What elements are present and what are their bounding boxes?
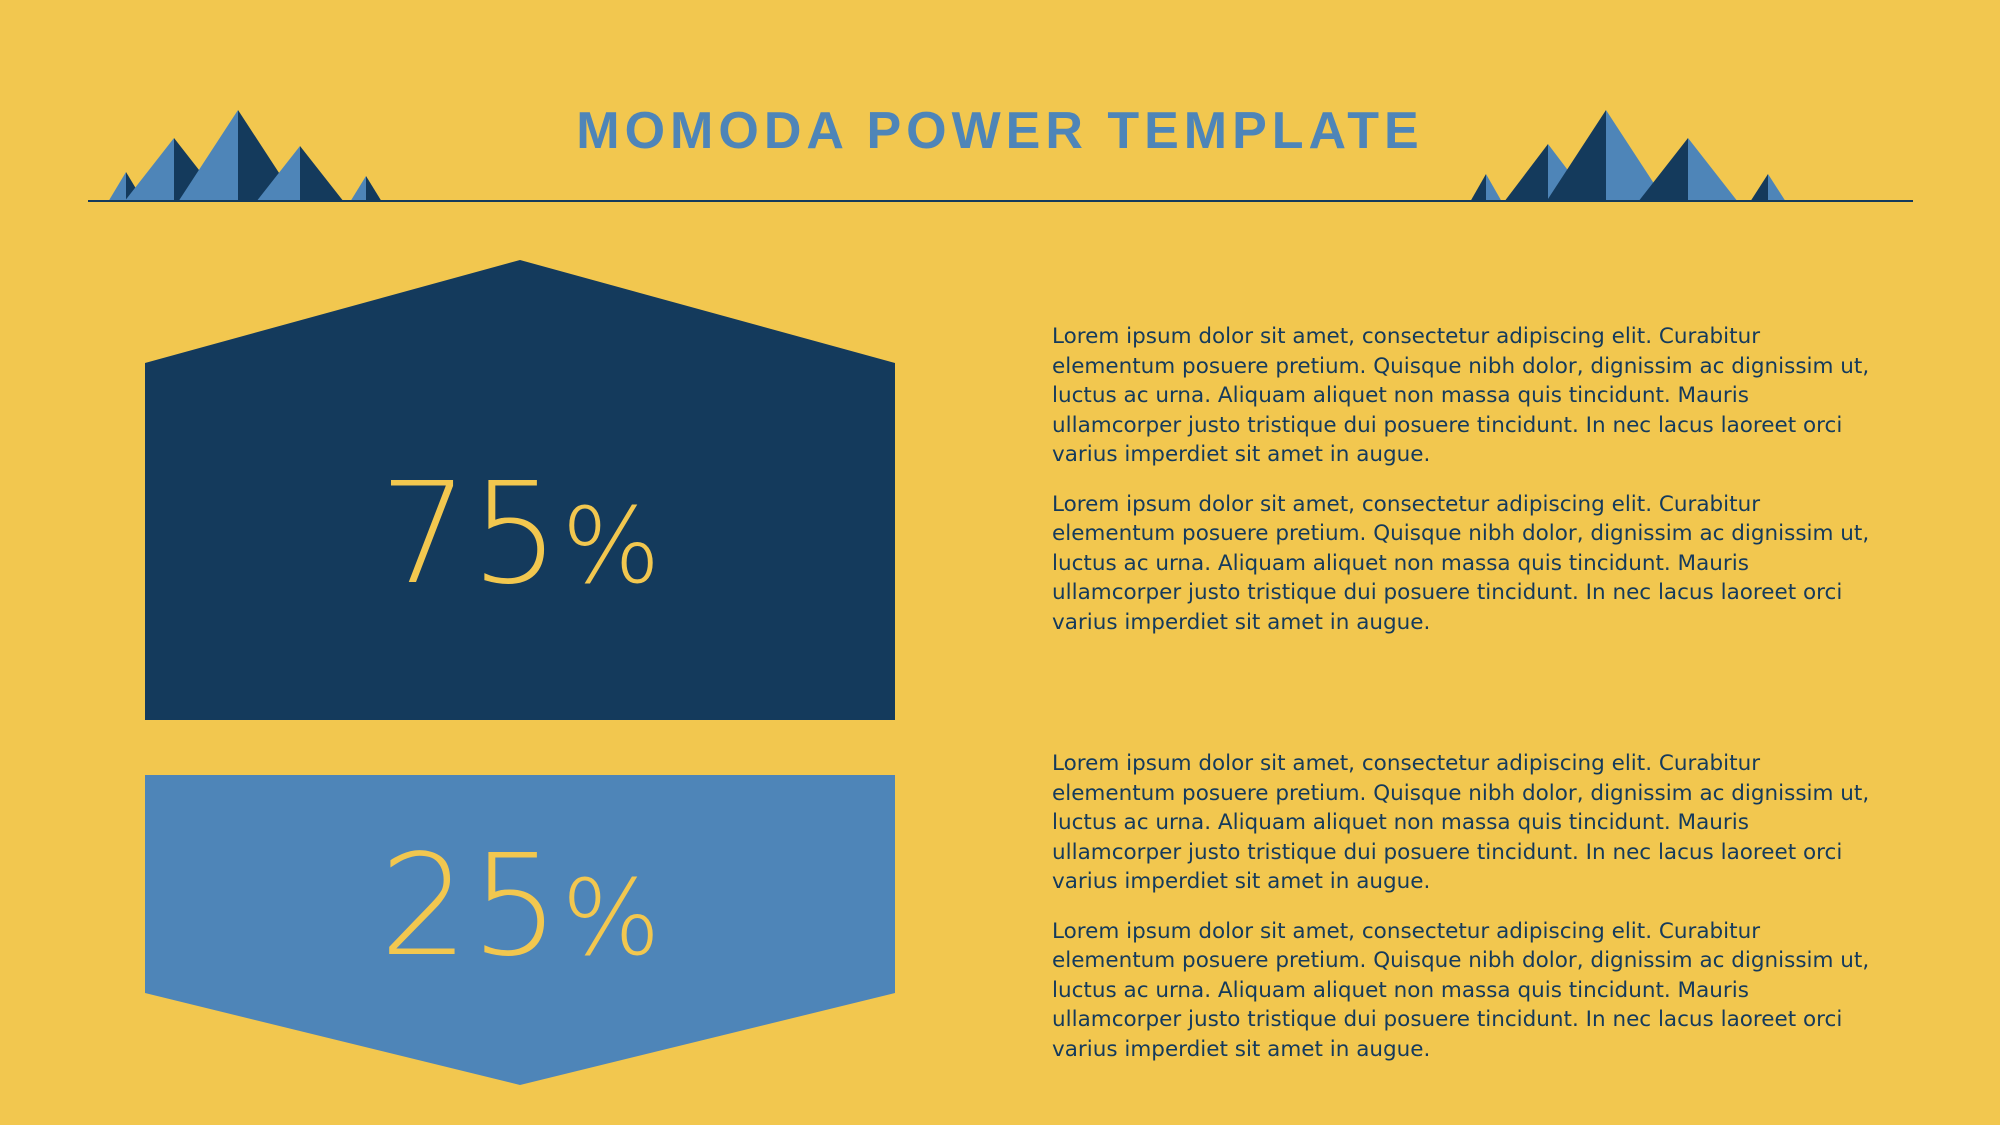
figure-25-percent: 25% [145,775,895,1085]
paragraph-group-1: Lorem ipsum dolor sit amet, consectetur … [1052,322,1884,470]
slide-canvas: MOMODA POWER TEMPLATE [0,0,2000,1125]
figure-75-value-group: 75% [145,465,895,605]
horizon-divider [88,200,1913,202]
figure-75-value: 75 [380,453,562,616]
copy-spacer [1052,637,1884,749]
paragraph: Lorem ipsum dolor sit amet, consectetur … [1052,917,1884,1065]
figure-75-unit: % [562,485,661,607]
paragraph: Lorem ipsum dolor sit amet, consectetur … [1052,490,1884,638]
paragraph: Lorem ipsum dolor sit amet, consectetur … [1052,322,1884,470]
percentage-figures: 75% 25% [0,250,960,1110]
figure-25-value-group: 25% [145,837,895,977]
paragraph: Lorem ipsum dolor sit amet, consectetur … [1052,749,1884,897]
slide-header: MOMODA POWER TEMPLATE [0,0,2000,210]
body-copy: Lorem ipsum dolor sit amet, consectetur … [1052,322,1884,1064]
figure-25-unit: % [562,857,661,979]
paragraph-group-1-second: Lorem ipsum dolor sit amet, consectetur … [1052,490,1884,638]
paragraph-group-2: Lorem ipsum dolor sit amet, consectetur … [1052,749,1884,897]
figure-75-percent: 75% [145,260,895,720]
mountain-range-right-icon [1470,110,1915,202]
figure-25-value: 25 [380,825,562,988]
paragraph-group-2-second: Lorem ipsum dolor sit amet, consectetur … [1052,917,1884,1065]
